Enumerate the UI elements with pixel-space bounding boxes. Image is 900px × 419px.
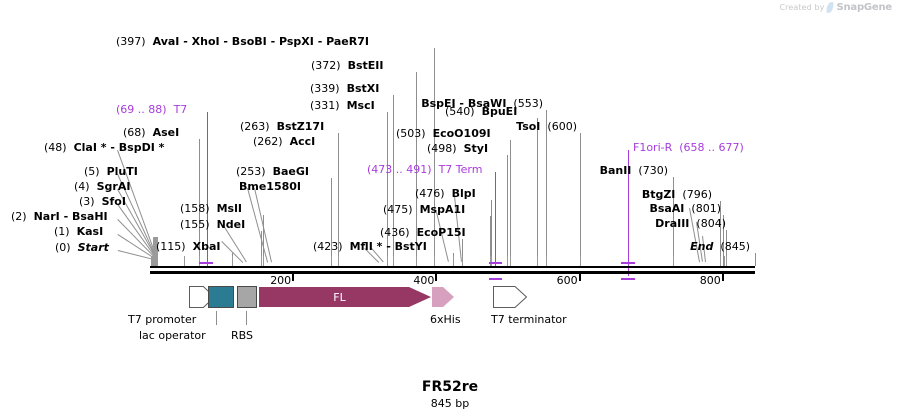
enzyme-label[interactable]: (155) NdeI xyxy=(180,219,252,230)
ruler-baseline xyxy=(150,271,755,274)
enzyme-label[interactable]: (1) KasI xyxy=(54,226,110,237)
enzyme-name: T7 xyxy=(174,103,188,116)
enzyme-label[interactable]: (0) Start xyxy=(55,242,116,253)
enzyme-label[interactable]: (503) EcoO109I xyxy=(396,128,498,139)
restriction-site-mark xyxy=(673,256,674,266)
enzyme-label[interactable]: (2) NarI - BsaHI xyxy=(11,211,115,222)
enzyme-name: EcoO109I xyxy=(433,127,491,140)
enzyme-label[interactable]: BspEI - BsaWI (553) xyxy=(421,98,543,109)
leader-to-site-845 xyxy=(755,253,756,266)
enzyme-position: (262) xyxy=(253,135,283,148)
restriction-site-mark xyxy=(462,256,463,266)
enzyme-name: MspA1I xyxy=(420,203,466,216)
enzyme-label[interactable]: (48) ClaI * - BspDI * xyxy=(44,142,171,153)
enzyme-position: (804) xyxy=(696,217,726,230)
enzyme-label[interactable]: (5) PluTI xyxy=(84,166,145,177)
feature-range-mark xyxy=(489,262,502,264)
enzyme-name: BstXI xyxy=(347,82,380,95)
enzyme-position: (476) xyxy=(415,187,445,200)
ruler-tick-400 xyxy=(435,274,437,281)
enzyme-label[interactable]: BtgZI (796) xyxy=(642,189,712,200)
enzyme-position: (263) xyxy=(240,120,270,133)
enzyme-name: Start xyxy=(78,241,109,254)
enzyme-position: (339) xyxy=(310,82,340,95)
enzyme-position: (48) xyxy=(44,141,67,154)
enzyme-name: AccI xyxy=(290,135,316,148)
feature-caption-rbs: RBS xyxy=(231,330,253,342)
sequence-map-canvas: Created by SnapGene (397) AvaI - XhoI - … xyxy=(0,0,900,419)
feature-caption-lac-operator: lac operator xyxy=(139,330,206,342)
restriction-site-mark xyxy=(263,256,264,266)
restriction-site-mark xyxy=(546,256,547,266)
restriction-site-mark xyxy=(434,256,435,266)
enzyme-position: (253) xyxy=(236,165,266,178)
enzyme-label[interactable]: (423) MflI * - BstYI xyxy=(313,241,434,252)
feature-caption-6xhis: 6xHis xyxy=(430,314,461,326)
restriction-site-mark xyxy=(393,256,394,266)
snapgene-leaf-icon xyxy=(827,2,834,14)
ruler-tick-600 xyxy=(579,274,581,281)
enzyme-name: SgrAI xyxy=(97,180,131,193)
enzyme-label[interactable]: (436) EcoP15I xyxy=(380,227,473,238)
restriction-site-mark xyxy=(387,256,388,266)
enzyme-label[interactable]: TsoI (600) xyxy=(516,121,577,132)
enzyme-label[interactable]: (253) BaeGI xyxy=(236,166,316,177)
enzyme-position: (155) xyxy=(180,218,210,231)
stem-lac-operator xyxy=(216,311,217,325)
feature-label[interactable]: (69 .. 88) T7 xyxy=(116,104,194,115)
stem-rbs xyxy=(246,311,247,325)
map-length: 845 bp xyxy=(0,397,900,410)
enzyme-label[interactable]: (115) XbaI xyxy=(156,241,227,252)
enzyme-position: (3) xyxy=(79,195,95,208)
feature-label[interactable]: F1ori-R (658 .. 677) xyxy=(633,142,751,153)
enzyme-name: StyI xyxy=(464,142,488,155)
enzyme-position: (600) xyxy=(547,120,577,133)
enzyme-label[interactable]: BanII (730) xyxy=(600,165,668,176)
enzyme-name: BtgZI xyxy=(642,188,676,201)
enzyme-position: (796) xyxy=(682,188,712,201)
enzyme-label[interactable]: (476) BlpI xyxy=(415,188,483,199)
enzyme-name: NdeI xyxy=(217,218,246,231)
restriction-site-mark xyxy=(199,256,200,266)
leader-to-site-600 xyxy=(580,133,581,266)
feature-fl-cds[interactable]: FL xyxy=(259,286,431,308)
restriction-site-mark xyxy=(724,256,725,266)
leader-feature-T7Term xyxy=(495,172,496,266)
enzyme-label[interactable]: End (845) xyxy=(690,241,750,252)
enzyme-position: (2) xyxy=(11,210,27,223)
enzyme-name: BlpI xyxy=(452,187,476,200)
enzyme-position: (553) xyxy=(513,97,543,110)
enzyme-position: (0) xyxy=(55,241,71,254)
enzyme-name: AseI xyxy=(153,126,180,139)
restriction-site-mark xyxy=(338,256,339,266)
map-title: FR52re xyxy=(0,379,900,395)
restriction-site-mark xyxy=(580,256,581,266)
ruler-tick-200 xyxy=(292,274,294,281)
leader-to-site-540 xyxy=(537,118,538,266)
enzyme-label[interactable]: (3) SfoI xyxy=(79,196,133,207)
enzyme-position: (801) xyxy=(691,202,721,215)
restriction-site-mark xyxy=(261,256,262,266)
enzyme-name: TsoI xyxy=(516,120,540,133)
ruler-tick-label-600: 600 xyxy=(554,275,578,286)
enzyme-name: Bme1580I xyxy=(239,180,301,193)
feature-caption-t7-terminator: T7 terminator xyxy=(491,314,567,326)
enzyme-label[interactable]: (475) MspA1I xyxy=(383,204,472,215)
snapgene-watermark: Created by SnapGene xyxy=(779,2,892,13)
enzyme-label[interactable]: (68) AseI xyxy=(123,127,186,138)
enzyme-label[interactable]: (372) BstEII xyxy=(311,60,390,71)
enzyme-position: (331) xyxy=(310,99,340,112)
enzyme-name: SfoI xyxy=(102,195,126,208)
enzyme-label[interactable]: (262) AccI xyxy=(253,136,322,147)
enzyme-name: EcoP15I xyxy=(417,226,466,239)
enzyme-position: (658 .. 677) xyxy=(679,141,744,154)
enzyme-name: BaeGI xyxy=(273,165,309,178)
enzyme-label[interactable]: (498) StyI xyxy=(427,143,495,154)
enzyme-position: (68) xyxy=(123,126,146,139)
enzyme-name: F1ori-R xyxy=(633,141,672,154)
enzyme-label[interactable]: (397) AvaI - XhoI - BsoBI - PspXI - PaeR… xyxy=(116,36,376,47)
enzyme-label[interactable]: (263) BstZ17I xyxy=(240,121,331,132)
enzyme-name: BsaAI xyxy=(649,202,684,215)
enzyme-name: BanII xyxy=(600,164,632,177)
enzyme-position: (158) xyxy=(180,202,210,215)
enzyme-name: MflI * - BstYI xyxy=(350,240,427,253)
leader-to-site-553 xyxy=(546,110,547,266)
leader-to-site-503 xyxy=(510,140,511,266)
feature-6xhis[interactable] xyxy=(432,286,454,308)
watermark-brand: SnapGene xyxy=(836,2,892,13)
restriction-site-mark xyxy=(154,256,155,266)
feature-range-mark xyxy=(621,262,635,264)
enzyme-position: (115) xyxy=(156,240,186,253)
enzyme-name: DraIII xyxy=(655,217,689,230)
restriction-site-mark xyxy=(507,256,508,266)
enzyme-name: T7 Term xyxy=(439,163,483,176)
enzyme-label[interactable]: DraIII (804) xyxy=(655,218,726,229)
enzyme-position: (436) xyxy=(380,226,410,239)
restriction-site-mark xyxy=(184,256,185,266)
enzyme-position: (4) xyxy=(74,180,90,193)
feature-range-mark-lower xyxy=(621,278,635,280)
enzyme-position: (1) xyxy=(54,225,70,238)
enzyme-position: (730) xyxy=(638,164,668,177)
enzyme-label[interactable]: Bme1580I xyxy=(239,181,308,192)
enzyme-position: (845) xyxy=(720,240,750,253)
feature-lac-operator[interactable] xyxy=(208,286,234,308)
restriction-site-mark xyxy=(491,256,492,266)
enzyme-position: (503) xyxy=(396,127,426,140)
enzyme-name: BspEI - BsaWI xyxy=(421,97,506,110)
restriction-site-mark xyxy=(416,256,417,266)
enzyme-name: NarI - BsaHI xyxy=(34,210,108,223)
feature-range-mark xyxy=(199,262,213,264)
watermark-prefix: Created by xyxy=(779,3,824,12)
enzyme-label[interactable]: (339) BstXI xyxy=(310,83,386,94)
enzyme-position: (498) xyxy=(427,142,457,155)
enzyme-position: (473 .. 491) xyxy=(367,163,432,176)
restriction-site-mark xyxy=(726,256,727,266)
enzyme-name: End xyxy=(690,240,713,253)
feature-rbs[interactable] xyxy=(237,286,257,308)
feature-inline-label: FL xyxy=(259,292,420,303)
enzyme-position: (5) xyxy=(84,165,100,178)
enzyme-label[interactable]: (158) MslI xyxy=(180,203,249,214)
enzyme-name: XbaI xyxy=(193,240,221,253)
enzyme-name: ClaI * - BspDI * xyxy=(74,141,165,154)
enzyme-name: BstEII xyxy=(348,59,384,72)
enzyme-position: (475) xyxy=(383,203,413,216)
ruler-tick-label-200: 200 xyxy=(267,275,291,286)
ruler-tick-800 xyxy=(722,274,724,281)
enzyme-name: KasI xyxy=(77,225,104,238)
enzyme-name: BstZ17I xyxy=(277,120,325,133)
enzyme-label[interactable]: (331) MscI xyxy=(310,100,382,111)
enzyme-position: (69 .. 88) xyxy=(116,103,167,116)
restriction-site-mark xyxy=(537,256,538,266)
ruler-tick-label-800: 800 xyxy=(697,275,721,286)
enzyme-position: (397) xyxy=(116,35,146,48)
enzyme-name: MslI xyxy=(217,202,242,215)
enzyme-name: AvaI - XhoI - BsoBI - PspXI - PaeR7I xyxy=(153,35,369,48)
enzyme-position: (423) xyxy=(313,240,343,253)
restriction-site-mark xyxy=(720,256,721,266)
enzyme-position: (372) xyxy=(311,59,341,72)
leader-to-site-498 xyxy=(507,155,508,266)
enzyme-label[interactable]: BsaAI (801) xyxy=(649,203,721,214)
enzyme-name: PluTI xyxy=(107,165,138,178)
feature-caption-t7-promoter: T7 promoter xyxy=(128,314,196,326)
feature-range-mark-lower xyxy=(489,278,502,280)
restriction-site-mark xyxy=(510,256,511,266)
ruler-tick-label-400: 400 xyxy=(410,275,434,286)
restriction-site-mark xyxy=(453,256,454,266)
restriction-site-mark xyxy=(232,256,233,266)
enzyme-name: MscI xyxy=(347,99,375,112)
restriction-site-mark xyxy=(331,256,332,266)
enzyme-label[interactable]: (4) SgrAI xyxy=(74,181,137,192)
leader-slant-mslI xyxy=(224,227,247,263)
feature-label[interactable]: (473 .. 491) T7 Term xyxy=(367,164,489,175)
feature-t7-terminator[interactable] xyxy=(493,286,527,308)
ruler-top-line xyxy=(150,266,755,268)
